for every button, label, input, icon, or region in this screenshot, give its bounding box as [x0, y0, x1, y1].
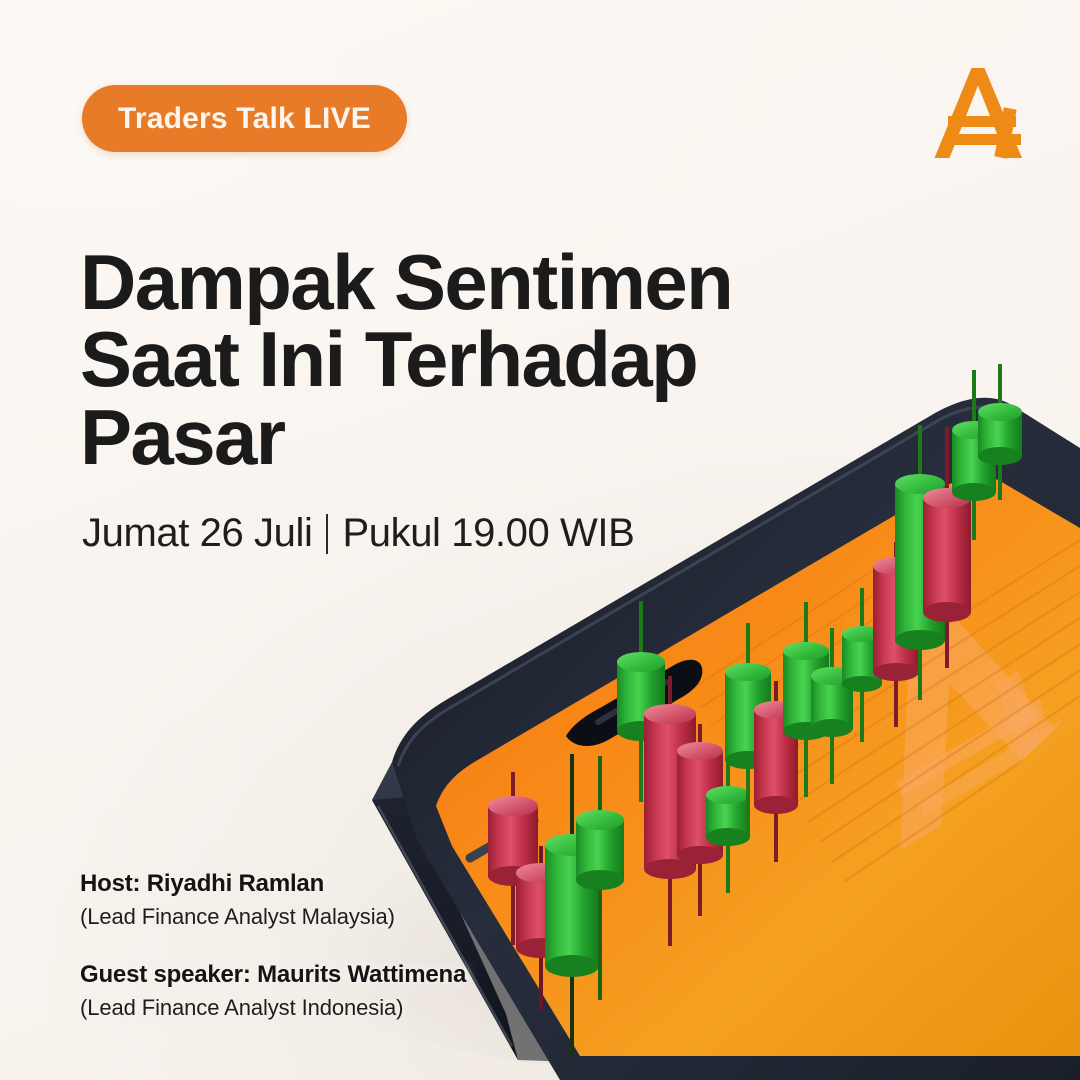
promo-poster: Traders Talk LIVE Dampak Sentimen Saat I… — [0, 0, 1080, 1080]
guest-name: Guest speaker: Maurits Wattimena — [80, 959, 560, 991]
host-role: (Lead Finance Analyst Malaysia) — [80, 902, 560, 933]
credit-host: Host: Riyadhi Ramlan (Lead Finance Analy… — [80, 868, 560, 933]
guest-role: (Lead Finance Analyst Indonesia) — [80, 993, 560, 1024]
speaker-credits: Host: Riyadhi Ramlan (Lead Finance Analy… — [80, 868, 560, 1024]
credit-guest: Guest speaker: Maurits Wattimena (Lead F… — [80, 959, 560, 1024]
host-name: Host: Riyadhi Ramlan — [80, 868, 560, 900]
